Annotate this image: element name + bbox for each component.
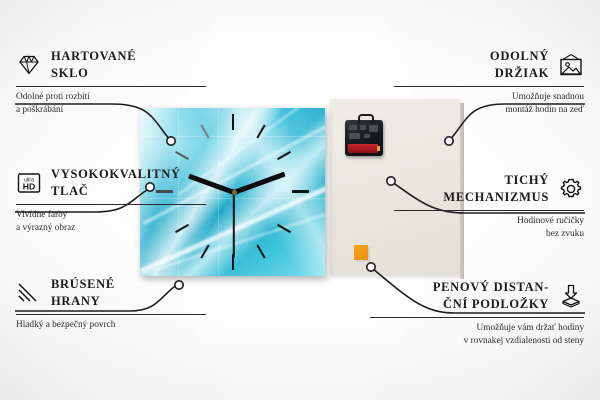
feature-divider	[394, 210, 584, 211]
mechanism-slot	[364, 134, 370, 138]
feature-desc-line2: bez zvuku	[546, 229, 584, 239]
feature-header: ultra HD VYSOKOKVALITNÝ TLAČ	[16, 166, 206, 199]
feature-header: PENOVÝ DISTAN- ČNÍ PODLOŽKY	[370, 279, 584, 312]
feature-title-line1: BRÚSENÉ	[51, 277, 115, 291]
feature-title-line2: TLAČ	[51, 184, 89, 198]
feature-divider	[16, 86, 206, 87]
feature-desc-line1: Hladký a bezpečný povrch	[16, 320, 115, 330]
hour-tick-3	[292, 190, 309, 193]
feature-title-line2: SKLO	[51, 66, 89, 80]
feature-title-line1: VYSOKOKVALITNÝ	[51, 167, 181, 181]
clock-hands-hub	[232, 190, 237, 195]
feature-description: Umožňuje snadnou montáž hodin na zeď	[394, 91, 584, 118]
diamond-icon	[16, 53, 42, 77]
feature-high-quality-print: ultra HD VYSOKOKVALITNÝ TLAČ Vivídne far…	[16, 166, 206, 236]
product-infographic: HARTOVANÉ SKLO Odolné proti rozbití a po…	[0, 0, 600, 400]
feature-divider	[394, 86, 584, 87]
ultra-hd-icon-main-label: HD	[23, 181, 35, 191]
feature-description: Hodinové ručičky bez zvuku	[394, 215, 584, 242]
mechanism-slot	[369, 125, 378, 132]
feature-title-line1: TICHÝ	[505, 173, 549, 187]
feature-polished-edges: BRÚSENÉ HRANY Hladký a bezpečný povrch	[16, 276, 206, 332]
feature-desc-line1: Umožňuje snadnou	[512, 92, 584, 102]
feature-desc-line1: Vivídne farby	[16, 210, 67, 220]
hour-tick-12	[232, 114, 234, 130]
feature-desc-line1: Hodinové ručičky	[517, 216, 584, 226]
feature-title-line1: ODOLNÝ	[490, 49, 549, 63]
feature-tempered-glass: HARTOVANÉ SKLO Odolné proti rozbití a po…	[16, 48, 206, 118]
gear-icon	[558, 177, 584, 201]
feature-title-line2: DRŽIAK	[495, 66, 549, 80]
feature-title-line1: PENOVÝ DISTAN-	[433, 280, 549, 294]
hanger-loop-icon	[358, 114, 374, 124]
feature-description: Umožňuje vám držať hodiny v rovnakej vzd…	[370, 322, 584, 349]
diagonal-lines-icon	[16, 281, 42, 305]
mechanism-slot	[360, 125, 366, 130]
feature-title: BRÚSENÉ HRANY	[51, 276, 115, 309]
feature-title-line2: HRANY	[51, 294, 100, 308]
artwork-gridline	[140, 136, 325, 137]
feature-desc-line1: Odolné proti rozbití	[16, 92, 90, 102]
feature-header: ODOLNÝ DRŽIAK	[394, 48, 584, 81]
clock-mechanism	[345, 120, 383, 156]
mechanism-slot	[349, 125, 357, 130]
feature-title-line1: HARTOVANÉ	[51, 49, 136, 63]
foam-spacer-pad	[354, 245, 368, 260]
feature-title-line2: MECHANIZMUS	[443, 190, 549, 204]
feature-description: Hladký a bezpečný povrch	[16, 319, 206, 332]
feature-title-line2: ČNÍ PODLOŽKY	[443, 297, 549, 311]
feature-divider	[16, 204, 206, 205]
feature-header: HARTOVANÉ SKLO	[16, 48, 206, 81]
feature-silent-mechanism: TICHÝ MECHANIZMUS Hodinové ručičky bez z…	[394, 172, 584, 242]
feature-title: VYSOKOKVALITNÝ TLAČ	[51, 166, 181, 199]
feature-description: Odolné proti rozbití a poškrábání	[16, 91, 206, 118]
mechanism-slot	[349, 133, 360, 139]
feature-foam-spacers: PENOVÝ DISTAN- ČNÍ PODLOŽKY Umožňuje vám…	[370, 279, 584, 349]
feature-desc-line2: a výrazný obraz	[16, 223, 75, 233]
feature-header: TICHÝ MECHANIZMUS	[394, 172, 584, 205]
clock-battery	[348, 144, 378, 153]
feature-desc-line2: montáž hodin na zeď	[505, 105, 584, 115]
feature-header: BRÚSENÉ HRANY	[16, 276, 206, 309]
feature-title: PENOVÝ DISTAN- ČNÍ PODLOŽKY	[433, 279, 549, 312]
feature-desc-line2: v rovnakej vzdialenosti od steny	[464, 336, 584, 346]
feature-desc-line2: a poškrábání	[16, 105, 63, 115]
feature-desc-line1: Umožňuje vám držať hodiny	[477, 323, 585, 333]
ultra-hd-icon: ultra HD	[16, 171, 42, 195]
feature-description: Vivídne farby a výrazný obraz	[16, 209, 206, 236]
artwork-gridline	[218, 108, 219, 276]
second-hand	[233, 192, 235, 258]
feature-title: HARTOVANÉ SKLO	[51, 48, 136, 81]
picture-frame-icon	[558, 53, 584, 77]
feature-divider	[16, 314, 206, 315]
arrow-down-pad-icon	[558, 284, 584, 308]
feature-divider	[370, 317, 584, 318]
feature-title: TICHÝ MECHANIZMUS	[443, 172, 549, 205]
feature-title: ODOLNÝ DRŽIAK	[490, 48, 549, 81]
feature-durable-hanger: ODOLNÝ DRŽIAK Umožňuje snadnou montáž ho…	[394, 48, 584, 118]
